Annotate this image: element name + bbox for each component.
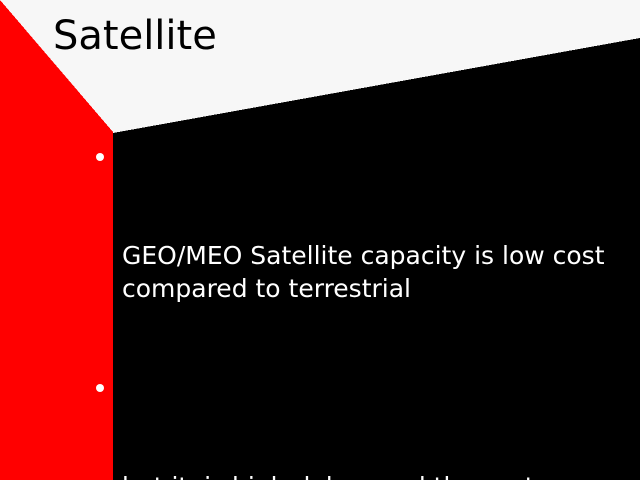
list-item: but it is high delay, and the costs are … <box>0 371 640 480</box>
bullet-text: GEO/MEO Satellite capacity is low cost c… <box>122 239 640 305</box>
bullet-dot-icon <box>96 384 104 392</box>
slide-title-area: Satellite <box>53 13 613 69</box>
bullet-text: but it is high delay, and the costs are … <box>122 470 640 480</box>
bullet-list: GEO/MEO Satellite capacity is low cost c… <box>0 140 640 480</box>
list-item: GEO/MEO Satellite capacity is low cost c… <box>0 140 640 371</box>
page-title: Satellite <box>53 13 613 59</box>
bullet-dot-icon <box>96 153 104 161</box>
presentation-slide: Satellite GEO/MEO Satellite capacity is … <box>0 0 640 480</box>
slide-body-area: GEO/MEO Satellite capacity is low cost c… <box>0 140 640 450</box>
